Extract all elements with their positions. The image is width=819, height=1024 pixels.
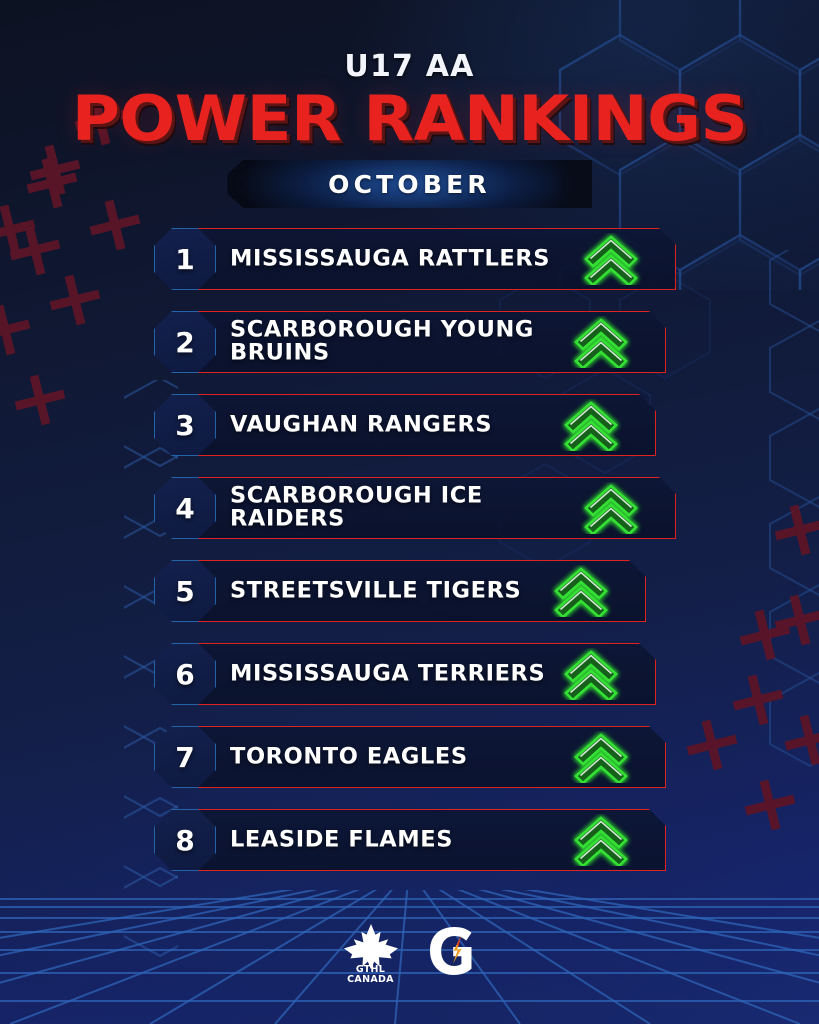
rank-badge: 1: [154, 228, 216, 290]
rank-number: 3: [175, 409, 194, 442]
double-chevron-up-icon: [570, 316, 632, 368]
rank-badge: 3: [154, 394, 216, 456]
rank-number: 8: [175, 824, 194, 857]
ranking-row[interactable]: 4SCARBOROUGH ICE RAIDERS: [0, 477, 819, 539]
double-chevron-up-icon: [570, 731, 632, 783]
team-name: VAUGHAN RANGERS: [230, 413, 560, 436]
team-name: SCARBOROUGH YOUNG BRUINS: [230, 319, 560, 366]
trend-indicator: [570, 814, 632, 866]
double-chevron-up-icon: [560, 648, 622, 700]
ranking-row[interactable]: 6MISSISSAUGA TERRIERS: [0, 643, 819, 705]
rank-badge: 7: [154, 726, 216, 788]
rank-number: 6: [175, 658, 194, 691]
team-name: STREETSVILLE TIGERS: [230, 579, 560, 602]
ranking-row[interactable]: 2SCARBOROUGH YOUNG BRUINS: [0, 311, 819, 373]
double-chevron-up-icon: [580, 233, 642, 285]
team-name: MISSISSAUGA RATTLERS: [230, 247, 560, 270]
rank-number: 1: [175, 243, 194, 276]
gthl-logo-text: GTHL CANADA: [347, 965, 394, 984]
trend-indicator: [570, 316, 632, 368]
team-name: LEASIDE FLAMES: [230, 828, 560, 851]
rankings-list: 1MISSISSAUGA RATTLERS2SCARBOROUGH YOUNG …: [0, 228, 819, 892]
trend-indicator: [560, 399, 622, 451]
rank-number: 4: [175, 492, 194, 525]
trend-indicator: [550, 565, 612, 617]
ranking-row[interactable]: 5STREETSVILLE TIGERS: [0, 560, 819, 622]
rank-number: 7: [175, 741, 194, 774]
gthl-canada-logo[interactable]: GTHL CANADA: [341, 922, 401, 984]
trend-indicator: [580, 482, 642, 534]
double-chevron-up-icon: [580, 482, 642, 534]
rank-badge: 5: [154, 560, 216, 622]
page-title: POWER RANKINGS: [0, 89, 819, 149]
rank-badge: 8: [154, 809, 216, 871]
team-name: MISSISSAUGA TERRIERS: [230, 662, 560, 685]
rank-number: 2: [175, 326, 194, 359]
month-banner: OCTOBER: [227, 160, 592, 208]
gatorade-logo[interactable]: [423, 923, 479, 984]
double-chevron-up-icon: [570, 814, 632, 866]
rank-badge: 4: [154, 477, 216, 539]
gatorade-g-icon: [423, 923, 479, 979]
double-chevron-up-icon: [550, 565, 612, 617]
ranking-row[interactable]: 7TORONTO EAGLES: [0, 726, 819, 788]
team-name: SCARBOROUGH ICE RAIDERS: [230, 485, 560, 532]
footer-logos: GTHL CANADA: [0, 922, 819, 984]
rank-number: 5: [175, 575, 194, 608]
ranking-row[interactable]: 3VAUGHAN RANGERS: [0, 394, 819, 456]
rank-badge: 6: [154, 643, 216, 705]
trend-indicator: [570, 731, 632, 783]
month-label: OCTOBER: [328, 170, 491, 199]
ranking-row[interactable]: 8LEASIDE FLAMES: [0, 809, 819, 871]
gthl-logo-line2: CANADA: [347, 975, 394, 985]
power-rankings-poster: U17 AA POWER RANKINGS OCTOBER 1MISSISSAU…: [0, 0, 819, 1024]
ranking-row[interactable]: 1MISSISSAUGA RATTLERS: [0, 228, 819, 290]
trend-indicator: [560, 648, 622, 700]
team-name: TORONTO EAGLES: [230, 745, 560, 768]
trend-indicator: [580, 233, 642, 285]
header-kicker: U17 AA: [0, 52, 819, 82]
poster-header: U17 AA POWER RANKINGS: [0, 52, 819, 149]
rank-badge: 2: [154, 311, 216, 373]
double-chevron-up-icon: [560, 399, 622, 451]
